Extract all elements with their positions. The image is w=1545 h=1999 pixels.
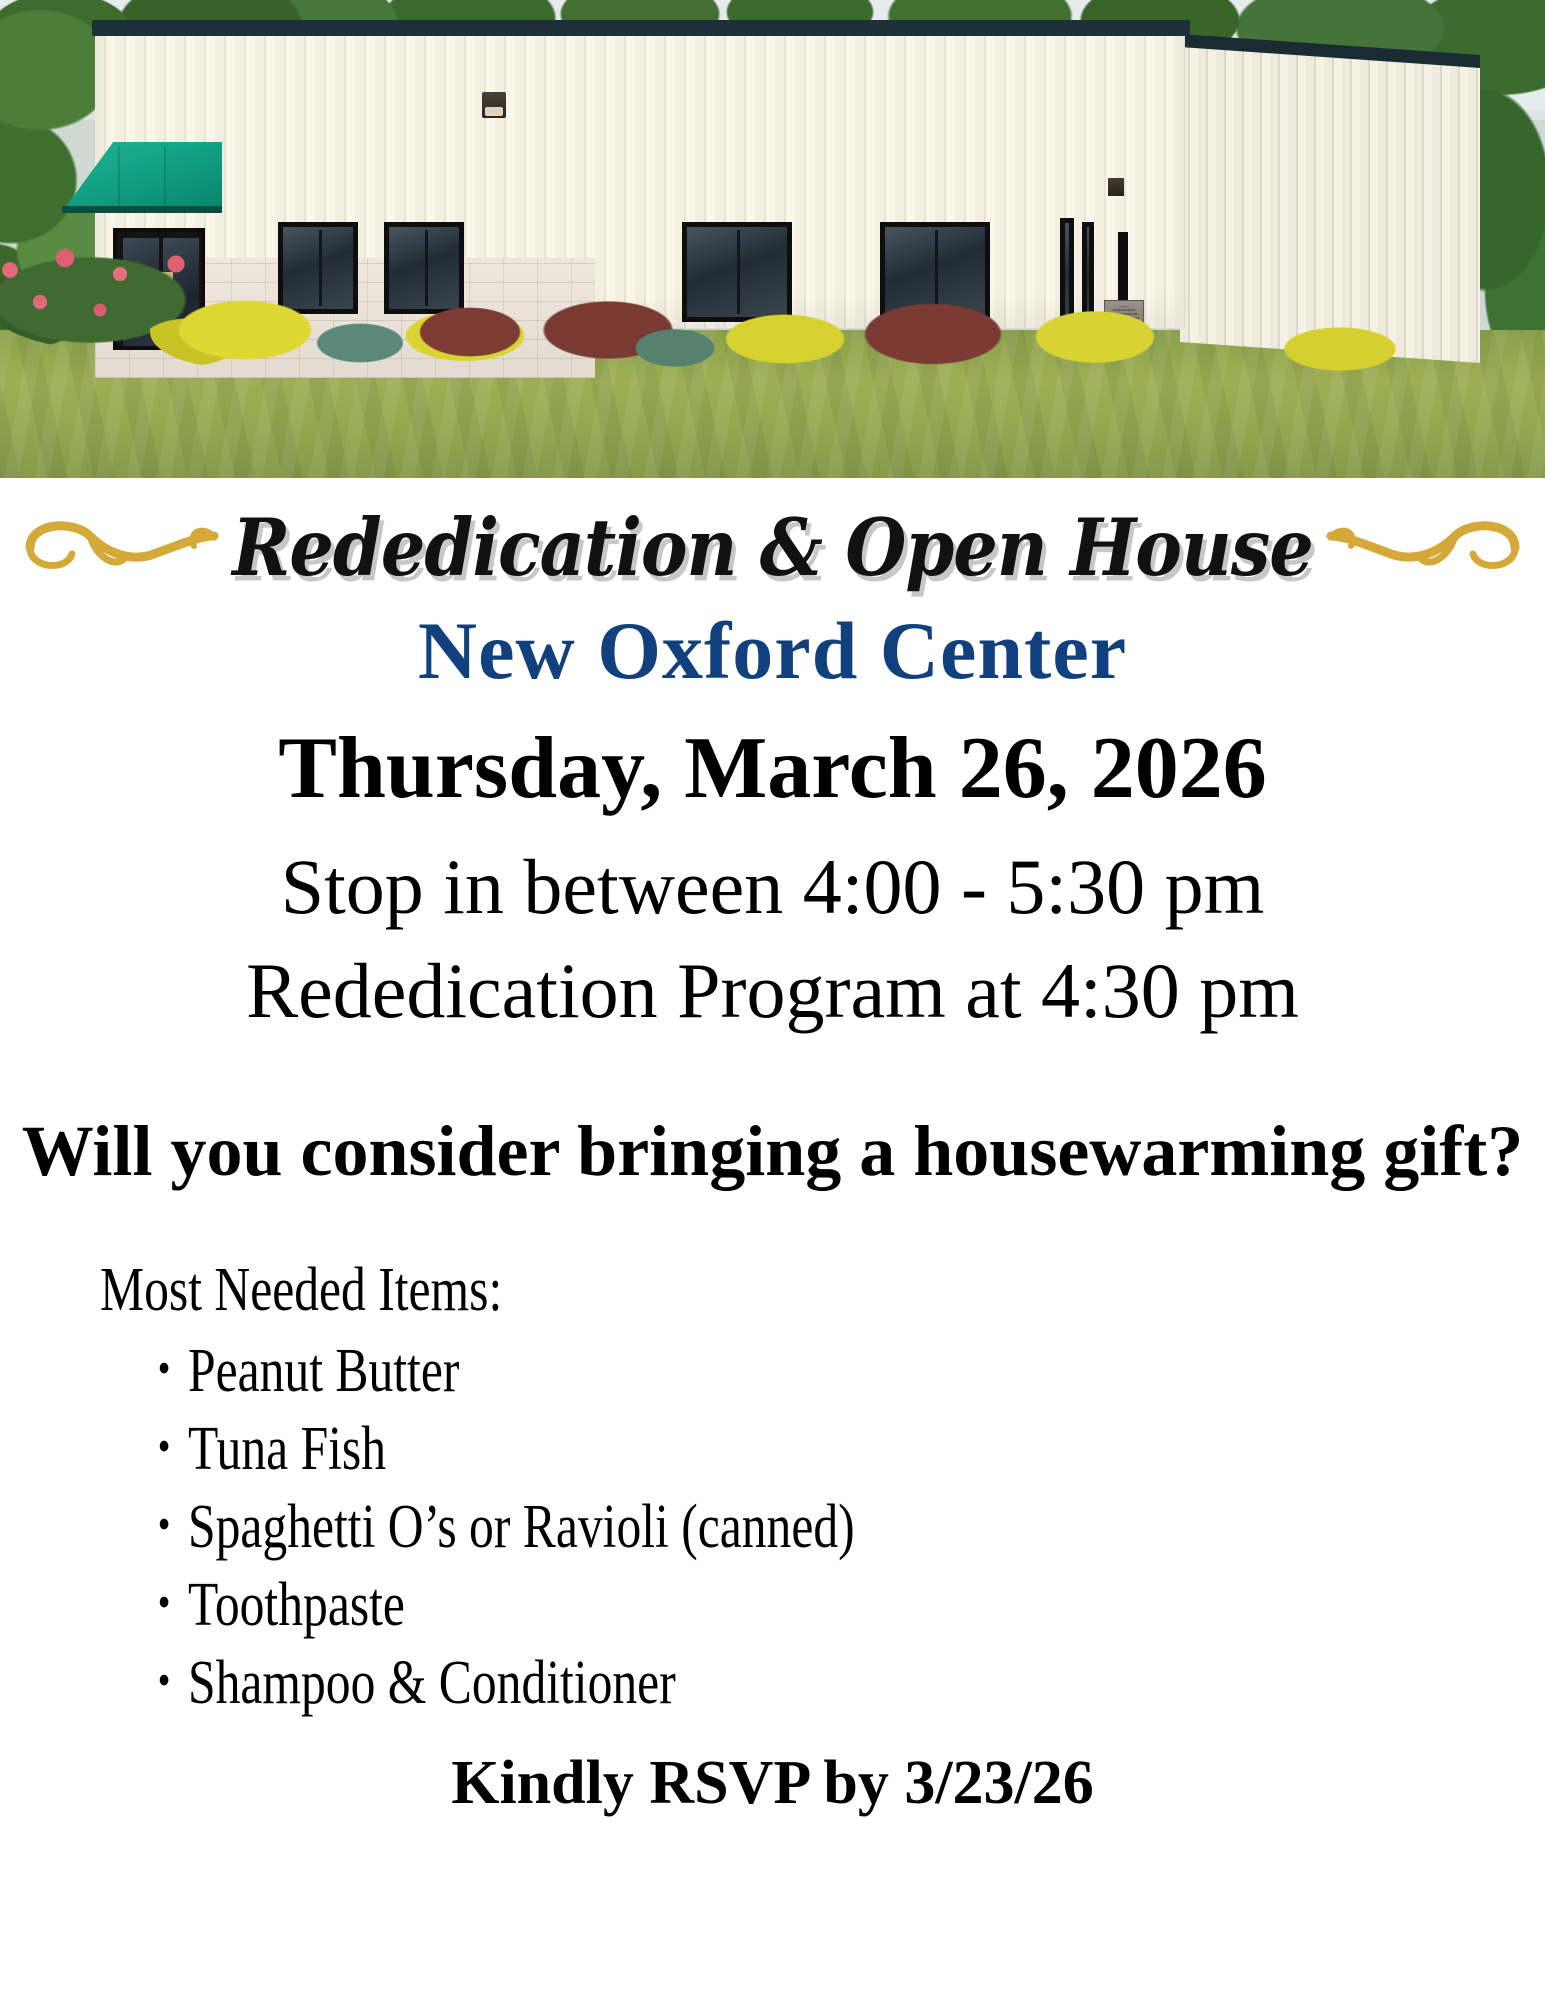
- flourish-ornament-right-icon: [1323, 506, 1523, 589]
- most-needed-items-block: Most Needed Items: Peanut Butter Tuna Fi…: [100, 1255, 1300, 1723]
- list-item: Toothpaste: [100, 1566, 1060, 1644]
- gold-shrub-5: [1260, 318, 1420, 380]
- awning-front-edge: [62, 206, 222, 213]
- building-photo: [0, 0, 1545, 478]
- items-heading: Most Needed Items:: [100, 1255, 1060, 1326]
- building-side-wing: [1180, 42, 1480, 363]
- event-program-time: Rededication Program at 4:30 pm: [246, 947, 1299, 1034]
- event-time-window: Stop in between 4:00 - 5:30 pm: [281, 843, 1265, 930]
- event-date-line: Thursday, March 26, 2026: [0, 718, 1545, 819]
- window-mullion: [737, 230, 740, 314]
- items-list: Peanut Butter Tuna Fish Spaghetti O’s or…: [100, 1332, 1300, 1723]
- juniper-shrub-2: [620, 322, 730, 374]
- gold-shrub-4: [1010, 300, 1180, 374]
- list-item: Spaghetti O’s or Ravioli (canned): [100, 1488, 1060, 1566]
- awning-rib: [118, 146, 120, 210]
- flourish-ornament-left-icon: [22, 506, 222, 589]
- venue-title-line: New Oxford Center: [0, 604, 1545, 698]
- wall-light-fixture-secondary: [1108, 178, 1124, 196]
- burgundy-shrub-3: [838, 292, 1028, 376]
- awning-rib: [164, 146, 166, 210]
- event-program-time-line: Rededication Program at 4:30 pm: [0, 946, 1545, 1036]
- list-item: Tuna Fish: [100, 1410, 1060, 1488]
- window-mullion: [319, 230, 322, 306]
- housewarming-question-line: Will you consider bringing a housewarmin…: [0, 1110, 1545, 1193]
- event-time-window-line: Stop in between 4:00 - 5:30 pm: [0, 842, 1545, 932]
- window-mullion: [425, 230, 428, 306]
- list-item: Peanut Butter: [100, 1332, 1060, 1410]
- script-title-row: Rededication & Open House: [0, 492, 1545, 602]
- wall-light-fixture: [482, 92, 506, 118]
- rsvp-text: Kindly RSVP by 3/23/26: [451, 1749, 1094, 1817]
- event-date: Thursday, March 26, 2026: [278, 720, 1267, 817]
- venue-title: New Oxford Center: [418, 605, 1127, 696]
- list-item: Shampoo & Conditioner: [100, 1644, 1060, 1722]
- roof-trim-cap: [92, 20, 1190, 36]
- housewarming-question: Will you consider bringing a housewarmin…: [22, 1111, 1524, 1191]
- rsvp-line: Kindly RSVP by 3/23/26: [0, 1748, 1545, 1819]
- script-title: Rededication & Open House: [222, 501, 1323, 594]
